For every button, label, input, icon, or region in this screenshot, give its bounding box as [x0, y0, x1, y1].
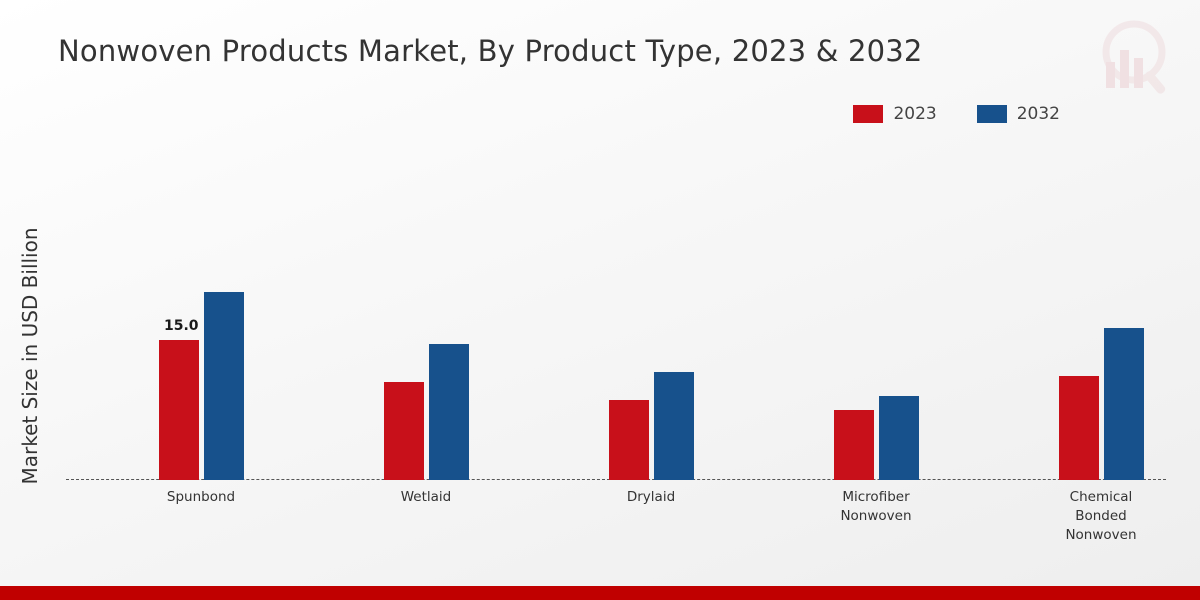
category-label-line: Chemical [1016, 488, 1186, 507]
bar-value-label: 15.0 [164, 318, 199, 334]
bar-group: Drylaid [566, 150, 736, 480]
bar-2023[interactable] [159, 340, 199, 480]
bar-pair [341, 150, 511, 480]
legend-label-2023: 2023 [893, 104, 936, 124]
category-label-line: Nonwoven [1016, 526, 1186, 545]
category-label-line: Drylaid [566, 488, 736, 507]
category-label-line: Microfiber [791, 488, 961, 507]
category-label-line: Nonwoven [791, 507, 961, 526]
bar-2032[interactable] [654, 372, 694, 480]
bar-pair [1016, 150, 1186, 480]
plot-area: 15.0 Spunbond Wetlaid Drylaid [66, 150, 1166, 480]
bar-group: Wetlaid [341, 150, 511, 480]
chart-page: Nonwoven Products Market, By Product Typ… [0, 0, 1200, 600]
legend-label-2032: 2032 [1017, 104, 1060, 124]
bar-pair [566, 150, 736, 480]
bar-2032[interactable] [1104, 328, 1144, 480]
bar-2023[interactable] [834, 410, 874, 480]
y-axis-label: Market Size in USD Billion [0, 0, 18, 196]
bar-2032[interactable] [204, 292, 244, 480]
category-label: Drylaid [566, 488, 736, 507]
bar-2032[interactable] [429, 344, 469, 480]
bar-group: Chemical Bonded Nonwoven [1016, 150, 1186, 480]
category-label-line: Spunbond [116, 488, 286, 507]
market-research-logo-icon [1076, 18, 1172, 106]
category-label-line: Wetlaid [341, 488, 511, 507]
legend-item-2023[interactable]: 2023 [853, 104, 936, 124]
legend-swatch-2023 [853, 105, 883, 123]
bar-pair [791, 150, 961, 480]
bar-pair [116, 150, 286, 480]
footer-accent-bar [0, 586, 1200, 600]
legend: 2023 2032 [853, 104, 1060, 124]
category-label-line: Bonded [1016, 507, 1186, 526]
bar-group: 15.0 Spunbond [116, 150, 286, 480]
legend-item-2032[interactable]: 2032 [977, 104, 1060, 124]
bar-2032[interactable] [879, 396, 919, 480]
category-label: Spunbond [116, 488, 286, 507]
category-label: Microfiber Nonwoven [791, 488, 961, 526]
bar-2023[interactable] [384, 382, 424, 480]
category-label: Wetlaid [341, 488, 511, 507]
bar-2023[interactable] [1059, 376, 1099, 480]
legend-swatch-2032 [977, 105, 1007, 123]
page-title: Nonwoven Products Market, By Product Typ… [58, 34, 923, 68]
category-label: Chemical Bonded Nonwoven [1016, 488, 1186, 545]
y-axis-label-text: Market Size in USD Billion [18, 196, 42, 516]
bar-group: Microfiber Nonwoven [791, 150, 961, 480]
bar-2023[interactable] [609, 400, 649, 480]
